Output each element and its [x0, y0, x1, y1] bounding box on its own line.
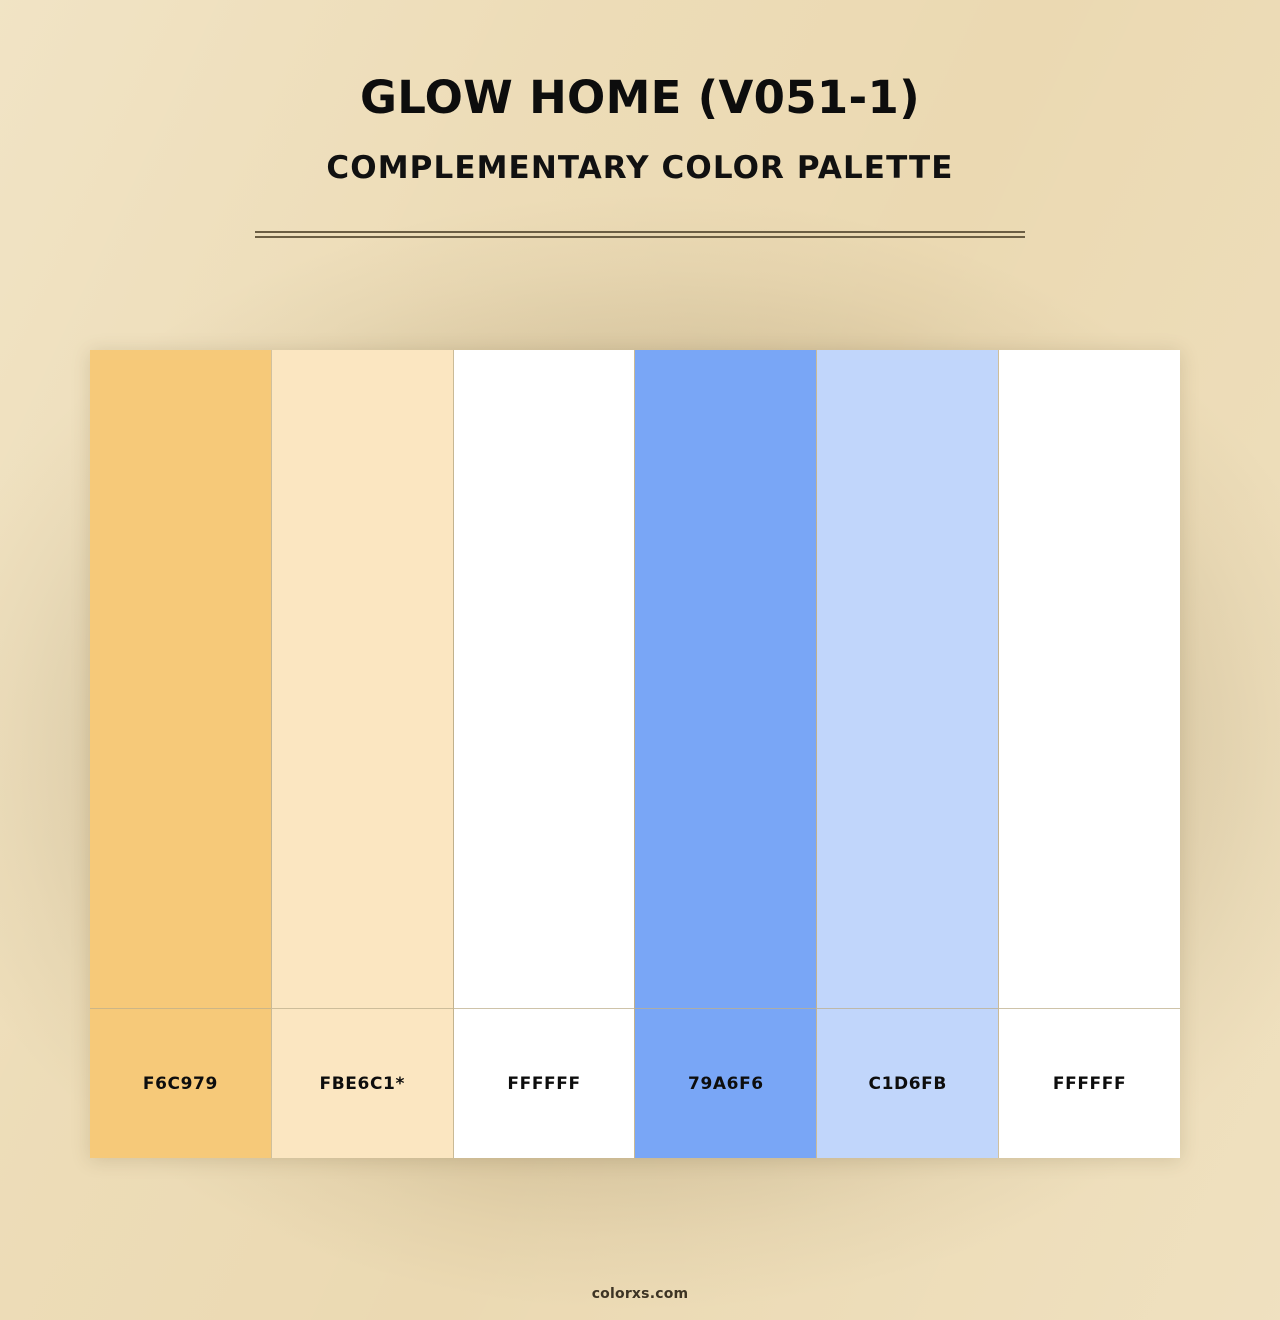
swatch-label-cell-6: FFFFFF	[999, 1008, 1180, 1158]
swatch-column-6[interactable]: FFFFFF	[998, 350, 1180, 1158]
page-subtitle: COMPLEMENTARY COLOR PALETTE	[0, 123, 1280, 185]
swatch-hex-label-1: F6C979	[143, 1074, 218, 1094]
swatch-column-2[interactable]: FBE6C1*	[271, 350, 453, 1158]
swatch-label-cell-4: 79A6F6	[635, 1008, 816, 1158]
color-swatch-5[interactable]	[817, 350, 998, 1008]
swatch-hex-label-6: FFFFFF	[1053, 1074, 1126, 1094]
color-swatch-1[interactable]	[90, 350, 271, 1008]
swatch-label-cell-5: C1D6FB	[817, 1008, 998, 1158]
color-swatch-2[interactable]	[272, 350, 453, 1008]
color-swatch-3[interactable]	[454, 350, 635, 1008]
page-title: GLOW HOME (V051-1)	[0, 0, 1280, 123]
site-watermark: colorxs.com	[592, 1286, 689, 1302]
swatch-column-5[interactable]: C1D6FB	[816, 350, 998, 1158]
color-palette-card: F6C979 FBE6C1* FFFFFF 79A6F6 C1D6FB FFFF…	[90, 350, 1180, 1158]
swatch-label-cell-3: FFFFFF	[454, 1008, 635, 1158]
swatch-column-1[interactable]: F6C979	[90, 350, 271, 1158]
color-swatch-4[interactable]	[635, 350, 816, 1008]
header-divider	[255, 231, 1025, 238]
swatch-column-3[interactable]: FFFFFF	[453, 350, 635, 1158]
color-swatch-6[interactable]	[999, 350, 1180, 1008]
swatch-hex-label-3: FFFFFF	[507, 1074, 580, 1094]
swatch-label-cell-1: F6C979	[90, 1008, 271, 1158]
footer: colorxs.com	[0, 1283, 1280, 1302]
swatch-label-cell-2: FBE6C1*	[272, 1008, 453, 1158]
header: GLOW HOME (V051-1) COMPLEMENTARY COLOR P…	[0, 0, 1280, 185]
swatch-column-4[interactable]: 79A6F6	[634, 350, 816, 1158]
swatch-hex-label-5: C1D6FB	[869, 1074, 947, 1094]
swatch-hex-label-4: 79A6F6	[688, 1074, 764, 1094]
divider-line-bottom	[255, 236, 1025, 238]
swatch-hex-label-2: FBE6C1*	[320, 1074, 405, 1094]
